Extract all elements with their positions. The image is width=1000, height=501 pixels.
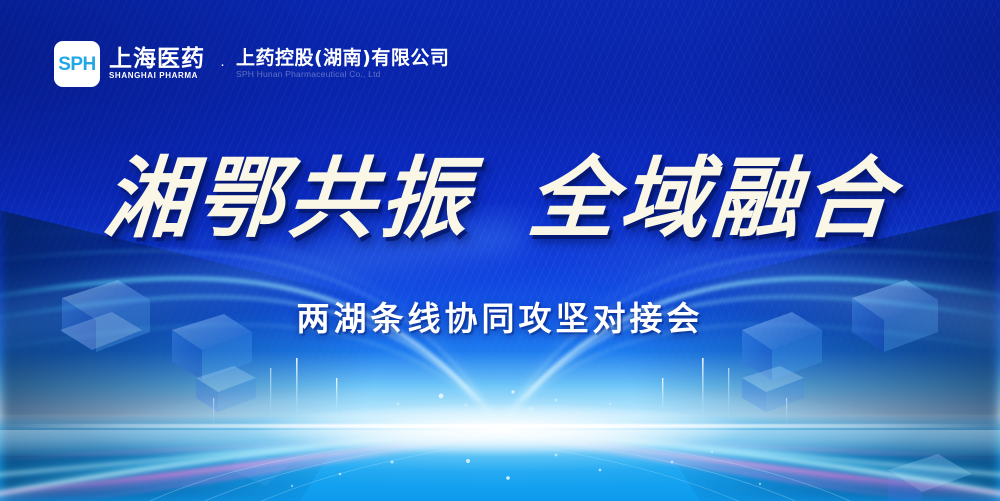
main-title-part-1: 湘鄂共振 <box>101 152 476 245</box>
floor-ripples <box>150 434 850 501</box>
main-title-part-2: 全域融合 <box>525 152 900 245</box>
parent-company-name-en: SHANGHAI PHARMA <box>109 72 205 81</box>
subsidiary-company-names: 上药控股(湖南)有限公司 SPH Hunan Pharmaceutical Co… <box>236 48 449 79</box>
floating-cube-bottom-right <box>888 454 972 501</box>
floating-cube-mid-left <box>196 366 256 412</box>
floating-cube-mid-right <box>742 366 804 412</box>
light-poles-left <box>213 358 337 430</box>
parent-company-names: 上海医药 SHANGHAI PHARMA <box>109 47 205 81</box>
event-banner: SPH 上海医药 SHANGHAI PHARMA · 上药控股(湖南)有限公司 … <box>0 0 1000 501</box>
parent-company-name-cn: 上海医药 <box>109 47 205 71</box>
floor-sheen <box>0 430 1000 501</box>
logo-separator-dot: · <box>220 57 225 72</box>
particle-dots <box>291 390 761 487</box>
light-trails-right <box>500 430 1000 501</box>
subsidiary-name-en: SPH Hunan Pharmaceutical Co., Ltd <box>236 70 449 79</box>
sph-logo-mark: SPH <box>54 41 100 87</box>
sph-logo-text: SPH <box>58 55 96 74</box>
event-subtitle: 两湖条线协同攻坚对接会 <box>0 292 1000 340</box>
horizon-line <box>0 424 1000 428</box>
subsidiary-name-cn: 上药控股(湖南)有限公司 <box>236 48 449 69</box>
light-trails-left <box>0 430 500 501</box>
main-title: 湘鄂共振 全域融合 <box>0 152 1000 245</box>
floating-cube-bottom-left <box>230 452 292 486</box>
light-poles-right <box>662 358 787 430</box>
company-logo-lockup: SPH 上海医药 SHANGHAI PHARMA · 上药控股(湖南)有限公司 … <box>54 41 449 87</box>
